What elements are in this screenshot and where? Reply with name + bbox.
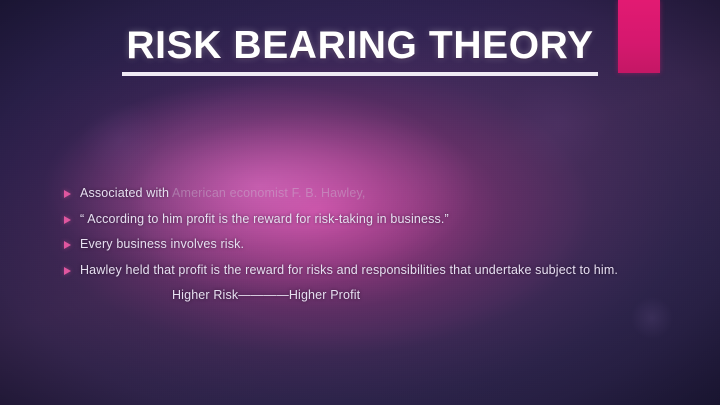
- bullet-text-visible: Associated with: [80, 186, 172, 200]
- triangle-right-icon: [62, 212, 80, 224]
- triangle-right-icon: [62, 237, 80, 249]
- triangle-right-icon: [62, 263, 80, 275]
- bullet-text: Associated with American economist F. B.…: [80, 186, 662, 202]
- bullet-item: Hawley held that profit is the reward fo…: [62, 263, 662, 279]
- bullet-text: “ According to him profit is the reward …: [80, 212, 662, 228]
- triangle-right-icon: [62, 186, 80, 198]
- slide-body: Associated with American economist F. B.…: [62, 186, 662, 304]
- slide-title-container: RISK BEARING THEORY: [0, 26, 720, 76]
- bullet-item: Associated with American economist F. B.…: [62, 186, 662, 202]
- slide-title: RISK BEARING THEORY: [122, 26, 597, 76]
- bullet-text-dimmed: American economist F. B. Hawley,: [172, 186, 366, 200]
- bullet-text: Every business involves risk.: [80, 237, 662, 253]
- bullet-item: Every business involves risk.: [62, 237, 662, 253]
- presentation-slide: RISK BEARING THEORY Associated with Amer…: [0, 0, 720, 405]
- bullet-item: “ According to him profit is the reward …: [62, 212, 662, 228]
- tagline-text: Higher Risk————Higher Profit: [172, 288, 662, 304]
- bullet-text: Hawley held that profit is the reward fo…: [80, 263, 662, 279]
